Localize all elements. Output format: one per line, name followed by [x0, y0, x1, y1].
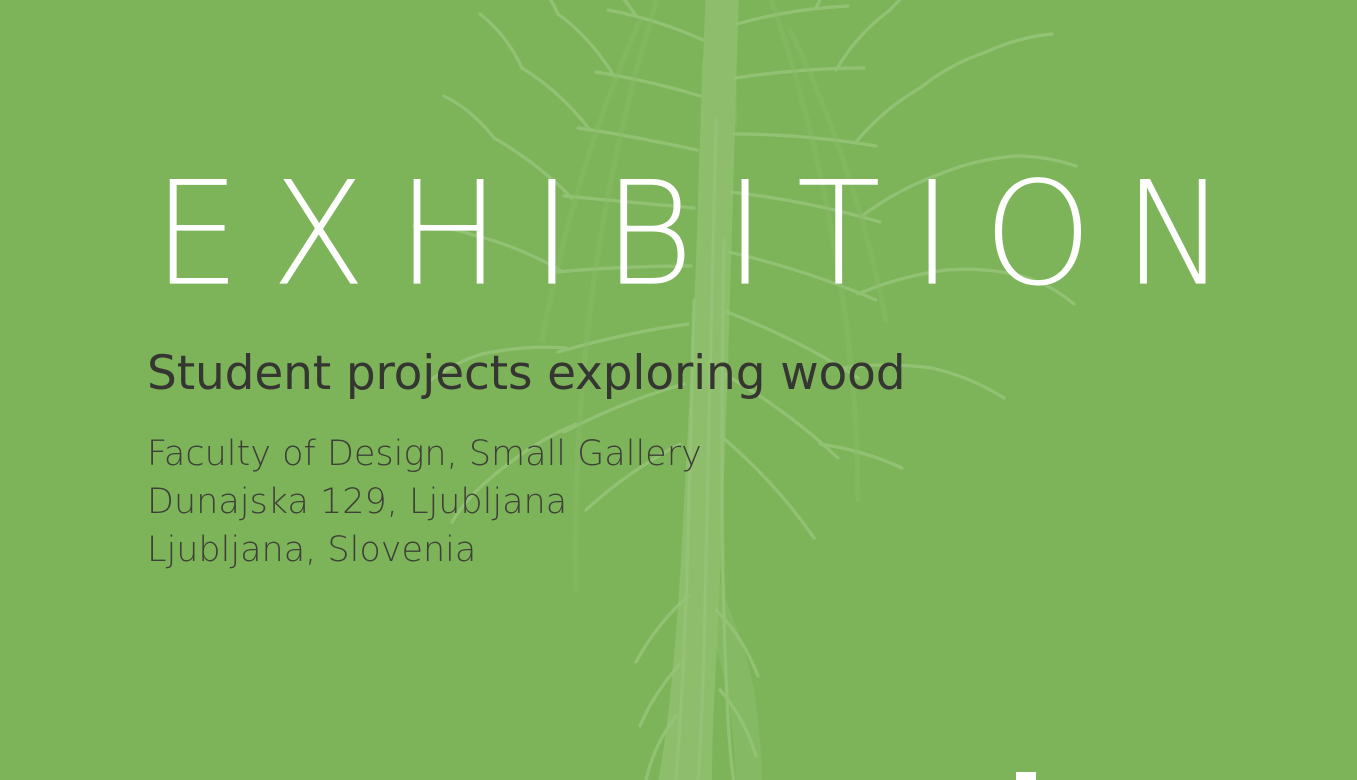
poster-text-block: EXHIBITION Student projects exploring wo… [147, 0, 1197, 780]
venue-address: Faculty of Design, Small Gallery Dunajsk… [147, 430, 702, 574]
address-line-venue: Faculty of Design, Small Gallery [147, 430, 702, 478]
exhibition-poster-slide: EXHIBITION Student projects exploring wo… [0, 0, 1357, 780]
address-line-street: Dunajska 129, Ljubljana [147, 478, 702, 526]
page-marker [1016, 772, 1036, 780]
page-title: EXHIBITION [153, 163, 1258, 307]
subtitle: Student projects exploring wood [147, 350, 905, 397]
address-line-city-country: Ljubljana, Slovenia [147, 526, 702, 574]
